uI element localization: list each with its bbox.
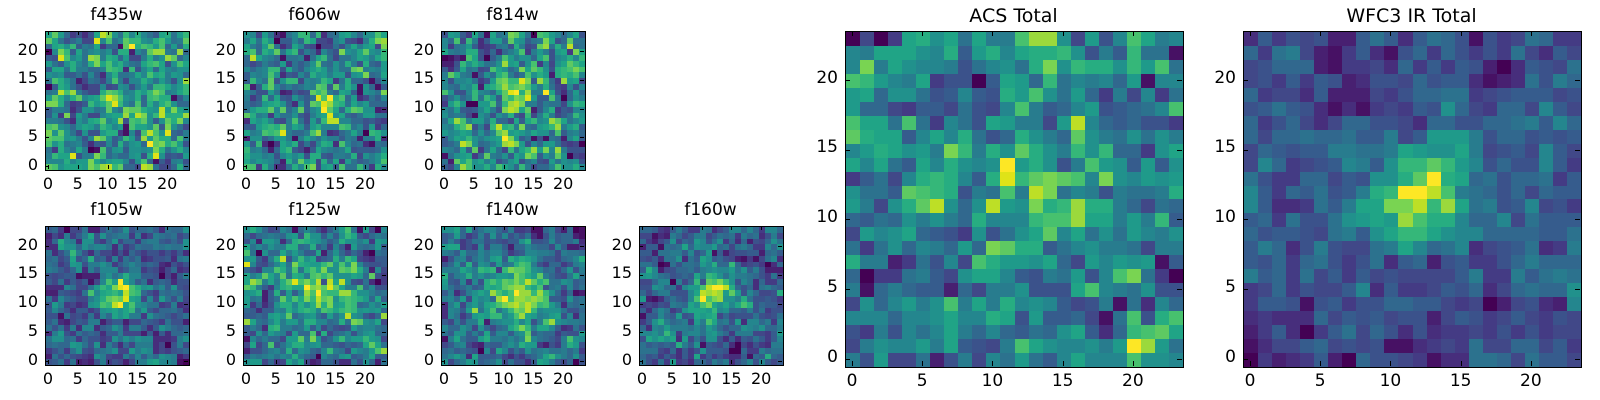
- y-tick-mark: [441, 109, 445, 110]
- x-tick-mark: [276, 360, 277, 364]
- y-tick-mark: [1243, 219, 1248, 220]
- x-tick-mark: [108, 31, 109, 35]
- x-tick-mark: [167, 31, 168, 35]
- y-tick-mark: [580, 109, 584, 110]
- x-tick-mark: [563, 226, 564, 230]
- y-tick-label: 0: [785, 347, 838, 367]
- x-tick-mark: [365, 360, 366, 364]
- x-tick-mark: [137, 360, 138, 364]
- y-tick-mark: [243, 361, 247, 362]
- x-tick-mark: [48, 226, 49, 230]
- x-tick-mark: [306, 31, 307, 35]
- x-tick-mark: [1461, 361, 1462, 366]
- y-tick-label: 0: [381, 350, 434, 369]
- x-tick-mark: [48, 31, 49, 35]
- x-tick-mark: [533, 31, 534, 35]
- x-tick-mark: [1063, 31, 1064, 36]
- y-tick-mark: [441, 304, 445, 305]
- x-tick-mark: [702, 226, 703, 230]
- x-tick-label: 20: [147, 174, 187, 193]
- y-tick-label: 0: [579, 350, 632, 369]
- y-tick-label: 10: [0, 97, 38, 116]
- y-tick-mark: [845, 80, 850, 81]
- y-tick-mark: [1575, 289, 1580, 290]
- x-tick-mark: [1063, 361, 1064, 366]
- x-tick-mark: [533, 226, 534, 230]
- x-tick-mark: [563, 165, 564, 169]
- x-tick-mark: [444, 226, 445, 230]
- heatmap-f125w: [243, 226, 388, 366]
- y-tick-label: 10: [183, 292, 236, 311]
- heatmap-wfc3-ir-total: [1243, 31, 1582, 368]
- y-tick-mark: [243, 51, 247, 52]
- x-tick-mark: [642, 226, 643, 230]
- panel-f125w: f125w0510152005101520: [183, 196, 406, 394]
- x-tick-mark: [78, 31, 79, 35]
- x-tick-mark: [108, 226, 109, 230]
- y-tick-mark: [441, 332, 445, 333]
- x-tick-mark: [167, 226, 168, 230]
- x-tick-mark: [474, 360, 475, 364]
- panel-f140w: f140w0510152005101520: [381, 196, 604, 394]
- y-tick-mark: [45, 361, 49, 362]
- y-tick-mark: [243, 80, 247, 81]
- x-tick-mark: [137, 165, 138, 169]
- panel-title: WFC3 IR Total: [1243, 5, 1580, 27]
- y-tick-mark: [243, 137, 247, 138]
- x-tick-label: 15: [1043, 371, 1083, 391]
- panel-f814w: f814w0510152005101520: [381, 1, 604, 199]
- x-tick-mark: [1320, 31, 1321, 36]
- y-tick-label: 20: [0, 235, 38, 254]
- y-tick-label: 15: [381, 263, 434, 282]
- x-tick-mark: [78, 360, 79, 364]
- x-tick-mark: [672, 226, 673, 230]
- y-tick-mark: [1243, 150, 1248, 151]
- x-tick-mark: [702, 360, 703, 364]
- y-tick-label: 0: [381, 155, 434, 174]
- x-tick-label: 15: [1441, 371, 1481, 391]
- x-tick-label: 10: [972, 371, 1012, 391]
- x-tick-label: 20: [543, 369, 583, 388]
- x-tick-mark: [276, 31, 277, 35]
- x-tick-mark: [306, 360, 307, 364]
- y-tick-mark: [580, 51, 584, 52]
- x-tick-mark: [1133, 31, 1134, 36]
- x-tick-label: 0: [832, 371, 872, 391]
- panel-title: f606w: [243, 5, 386, 25]
- y-tick-label: 20: [0, 40, 38, 59]
- panel-title: f435w: [45, 5, 188, 25]
- x-tick-mark: [137, 31, 138, 35]
- y-tick-label: 15: [0, 68, 38, 87]
- panel-title: f160w: [639, 200, 782, 220]
- y-tick-mark: [580, 166, 584, 167]
- y-tick-label: 20: [183, 40, 236, 59]
- x-tick-label: 20: [741, 369, 781, 388]
- y-tick-mark: [639, 275, 643, 276]
- y-tick-mark: [1177, 80, 1182, 81]
- panel-f435w: f435w0510152005101520: [0, 1, 208, 199]
- y-tick-mark: [243, 166, 247, 167]
- y-tick-mark: [441, 166, 445, 167]
- x-tick-mark: [167, 360, 168, 364]
- x-tick-mark: [78, 226, 79, 230]
- y-tick-mark: [441, 361, 445, 362]
- panel-f105w: f105w0510152005101520: [0, 196, 208, 394]
- x-tick-mark: [504, 31, 505, 35]
- y-tick-mark: [441, 246, 445, 247]
- y-tick-label: 5: [1183, 277, 1236, 297]
- x-tick-mark: [365, 226, 366, 230]
- heatmap-f814w: [441, 31, 586, 171]
- y-tick-mark: [243, 246, 247, 247]
- heatmap-f435w: [45, 31, 190, 171]
- x-tick-mark: [365, 165, 366, 169]
- y-tick-label: 0: [183, 155, 236, 174]
- x-tick-label: 20: [147, 369, 187, 388]
- panel-title: ACS Total: [845, 5, 1182, 27]
- y-tick-mark: [243, 275, 247, 276]
- panel-title: f140w: [441, 200, 584, 220]
- x-tick-mark: [922, 31, 923, 36]
- y-tick-mark: [1243, 80, 1248, 81]
- x-tick-mark: [335, 31, 336, 35]
- panel-f160w: f160w0510152005101520: [579, 196, 802, 394]
- y-tick-mark: [1575, 150, 1580, 151]
- y-tick-mark: [778, 361, 782, 362]
- y-tick-mark: [441, 80, 445, 81]
- x-tick-mark: [108, 360, 109, 364]
- x-tick-mark: [108, 165, 109, 169]
- y-tick-mark: [243, 332, 247, 333]
- y-tick-mark: [845, 150, 850, 151]
- panel-title: f814w: [441, 5, 584, 25]
- x-tick-label: 5: [1300, 371, 1340, 391]
- x-tick-mark: [137, 226, 138, 230]
- y-tick-mark: [778, 275, 782, 276]
- y-tick-mark: [1243, 359, 1248, 360]
- y-tick-label: 15: [785, 137, 838, 157]
- x-tick-mark: [1320, 361, 1321, 366]
- y-tick-mark: [45, 332, 49, 333]
- y-tick-label: 0: [0, 350, 38, 369]
- x-tick-mark: [533, 165, 534, 169]
- x-tick-mark: [852, 361, 853, 366]
- y-tick-mark: [1177, 150, 1182, 151]
- x-tick-mark: [731, 226, 732, 230]
- y-tick-label: 15: [579, 263, 632, 282]
- x-tick-mark: [761, 226, 762, 230]
- y-tick-label: 0: [0, 155, 38, 174]
- y-tick-label: 15: [0, 263, 38, 282]
- y-tick-mark: [45, 304, 49, 305]
- x-tick-mark: [1133, 361, 1134, 366]
- x-tick-mark: [1531, 361, 1532, 366]
- y-tick-mark: [845, 219, 850, 220]
- y-tick-mark: [441, 51, 445, 52]
- x-tick-mark: [922, 361, 923, 366]
- y-tick-mark: [243, 304, 247, 305]
- y-tick-label: 5: [183, 321, 236, 340]
- x-tick-mark: [992, 361, 993, 366]
- y-tick-mark: [845, 359, 850, 360]
- y-tick-mark: [1243, 289, 1248, 290]
- y-tick-label: 5: [785, 277, 838, 297]
- x-tick-mark: [474, 165, 475, 169]
- x-tick-label: 0: [1230, 371, 1270, 391]
- heatmap-f140w: [441, 226, 586, 366]
- y-tick-mark: [441, 275, 445, 276]
- y-tick-label: 5: [183, 126, 236, 145]
- x-tick-label: 20: [1113, 371, 1153, 391]
- x-tick-mark: [335, 360, 336, 364]
- y-tick-mark: [45, 109, 49, 110]
- y-tick-label: 20: [579, 235, 632, 254]
- y-tick-label: 15: [183, 68, 236, 87]
- x-tick-mark: [335, 165, 336, 169]
- y-tick-mark: [639, 361, 643, 362]
- x-tick-mark: [474, 31, 475, 35]
- x-tick-mark: [365, 31, 366, 35]
- y-tick-label: 10: [785, 207, 838, 227]
- x-tick-label: 5: [902, 371, 942, 391]
- y-tick-label: 10: [1183, 207, 1236, 227]
- x-tick-label: 20: [543, 174, 583, 193]
- y-tick-label: 10: [381, 97, 434, 116]
- y-tick-label: 20: [381, 235, 434, 254]
- y-tick-mark: [45, 51, 49, 52]
- x-tick-mark: [731, 360, 732, 364]
- heatmap-f160w: [639, 226, 784, 366]
- y-tick-label: 10: [0, 292, 38, 311]
- y-tick-label: 20: [381, 40, 434, 59]
- x-tick-mark: [563, 360, 564, 364]
- x-tick-mark: [335, 226, 336, 230]
- y-tick-label: 20: [785, 68, 838, 88]
- y-tick-label: 15: [183, 263, 236, 282]
- y-tick-label: 0: [183, 350, 236, 369]
- y-tick-label: 5: [381, 126, 434, 145]
- y-tick-label: 15: [381, 68, 434, 87]
- y-tick-label: 15: [1183, 137, 1236, 157]
- y-tick-mark: [580, 80, 584, 81]
- x-tick-mark: [852, 31, 853, 36]
- x-tick-mark: [444, 31, 445, 35]
- y-tick-mark: [45, 80, 49, 81]
- y-tick-mark: [580, 137, 584, 138]
- y-tick-mark: [1177, 359, 1182, 360]
- y-tick-mark: [1177, 289, 1182, 290]
- y-tick-mark: [639, 332, 643, 333]
- y-tick-mark: [778, 332, 782, 333]
- y-tick-mark: [778, 304, 782, 305]
- y-tick-label: 5: [381, 321, 434, 340]
- x-tick-label: 20: [345, 174, 385, 193]
- x-tick-mark: [504, 165, 505, 169]
- x-tick-mark: [533, 360, 534, 364]
- y-tick-label: 10: [381, 292, 434, 311]
- heatmap-acs-total: [845, 31, 1184, 368]
- x-tick-mark: [246, 31, 247, 35]
- x-tick-mark: [1390, 361, 1391, 366]
- y-tick-mark: [45, 246, 49, 247]
- y-tick-mark: [441, 137, 445, 138]
- x-tick-mark: [306, 165, 307, 169]
- x-tick-label: 10: [1370, 371, 1410, 391]
- x-tick-mark: [474, 226, 475, 230]
- y-tick-label: 10: [183, 97, 236, 116]
- y-tick-mark: [1575, 359, 1580, 360]
- x-tick-mark: [761, 360, 762, 364]
- y-tick-label: 20: [183, 235, 236, 254]
- y-tick-mark: [1575, 80, 1580, 81]
- x-tick-label: 20: [1511, 371, 1551, 391]
- y-tick-label: 10: [579, 292, 632, 311]
- panel-title: f105w: [45, 200, 188, 220]
- y-tick-label: 0: [1183, 347, 1236, 367]
- y-tick-mark: [778, 246, 782, 247]
- y-tick-mark: [1177, 219, 1182, 220]
- x-tick-mark: [276, 165, 277, 169]
- x-tick-mark: [78, 165, 79, 169]
- y-tick-label: 5: [579, 321, 632, 340]
- x-tick-mark: [1390, 31, 1391, 36]
- panel-f606w: f606w0510152005101520: [183, 1, 406, 199]
- y-tick-mark: [243, 109, 247, 110]
- x-tick-mark: [276, 226, 277, 230]
- x-tick-mark: [504, 360, 505, 364]
- x-tick-mark: [306, 226, 307, 230]
- x-tick-mark: [1531, 31, 1532, 36]
- x-tick-label: 20: [345, 369, 385, 388]
- y-tick-label: 5: [0, 126, 38, 145]
- y-tick-mark: [1575, 219, 1580, 220]
- y-tick-mark: [45, 166, 49, 167]
- y-tick-mark: [845, 289, 850, 290]
- x-tick-mark: [1250, 361, 1251, 366]
- x-tick-mark: [246, 226, 247, 230]
- y-tick-mark: [45, 275, 49, 276]
- x-tick-mark: [167, 165, 168, 169]
- y-tick-mark: [639, 304, 643, 305]
- x-tick-mark: [563, 31, 564, 35]
- y-tick-mark: [45, 137, 49, 138]
- x-tick-mark: [672, 360, 673, 364]
- y-tick-mark: [639, 246, 643, 247]
- y-tick-label: 20: [1183, 68, 1236, 88]
- x-tick-mark: [992, 31, 993, 36]
- panel-title: f125w: [243, 200, 386, 220]
- y-tick-label: 5: [0, 321, 38, 340]
- heatmap-f606w: [243, 31, 388, 171]
- x-tick-mark: [504, 226, 505, 230]
- heatmap-f105w: [45, 226, 190, 366]
- x-tick-mark: [1461, 31, 1462, 36]
- panel-wfc3-ir-total: WFC3 IR Total0510152005101520: [1183, 1, 1600, 396]
- panel-acs-total: ACS Total0510152005101520: [785, 1, 1202, 396]
- x-tick-mark: [1250, 31, 1251, 36]
